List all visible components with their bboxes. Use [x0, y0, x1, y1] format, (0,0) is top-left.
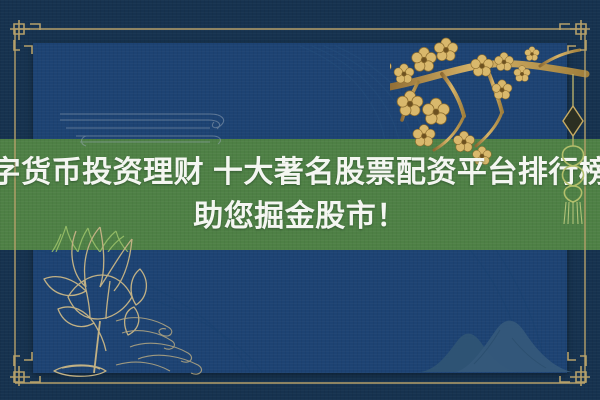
- title-line-2: 助您掘金股市！: [193, 195, 407, 239]
- title-block: 数字货币投资理财 十大著名股票配资平台排行榜： 助您掘金股市！: [0, 139, 600, 250]
- title-line-1: 数字货币投资理财 十大著名股票配资平台排行榜：: [0, 151, 600, 195]
- banner-image: 数字货币投资理财 十大著名股票配资平台排行榜： 助您掘金股市！: [0, 0, 600, 400]
